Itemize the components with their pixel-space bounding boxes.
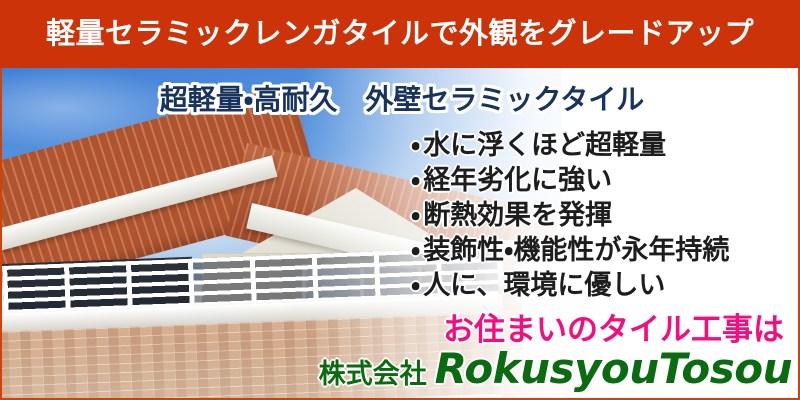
header-title: 軽量セラミックレンガタイルで外観をグレードアップ	[46, 20, 754, 49]
feature-list: ・水に浮くほど超軽量 ・経年劣化に強い ・断熱効果を発揮 ・装飾性・機能性が永年…	[411, 128, 729, 303]
bullet-dot-icon: ・	[411, 130, 420, 160]
list-item-label: 人に、環境に優しい	[423, 270, 665, 300]
list-item: ・装飾性・機能性が永年持続	[411, 233, 729, 268]
bullet-dot-icon: ・	[411, 165, 420, 195]
list-item-label: 水に浮くほど超軽量	[423, 130, 666, 160]
header-bar: 軽量セラミックレンガタイルで外観をグレードアップ	[0, 0, 800, 68]
bullet-dot-icon: ・	[411, 235, 420, 265]
company-signature: 株式会社RokusyouTosou	[2, 344, 792, 393]
advertisement-banner: 軽量セラミックレンガタイルで外観をグレードアップ	[0, 0, 800, 400]
bullet-dot-icon: ・	[411, 200, 420, 230]
list-item: ・人に、環境に優しい	[411, 268, 729, 303]
subtitle: 超軽量・高耐久 外壁セラミックタイル	[2, 78, 800, 118]
list-item: ・水に浮くほど超軽量	[411, 128, 729, 163]
list-item-label: 断熱効果を発揮	[423, 200, 612, 230]
company-name: RokusyouTosou	[435, 344, 792, 393]
company-prefix: 株式会社	[319, 359, 427, 389]
list-item-label: 経年劣化に強い	[423, 165, 612, 195]
list-item: ・経年劣化に強い	[411, 163, 729, 198]
bullet-dot-icon: ・	[411, 270, 420, 300]
photo-panel: 超軽量・高耐久 外壁セラミックタイル ・水に浮くほど超軽量 ・経年劣化に強い ・…	[0, 68, 800, 400]
tagline: お住まいのタイル工事は	[2, 304, 784, 349]
list-item-label: 装飾性・機能性が永年持続	[423, 235, 729, 265]
list-item: ・断熱効果を発揮	[411, 198, 729, 233]
